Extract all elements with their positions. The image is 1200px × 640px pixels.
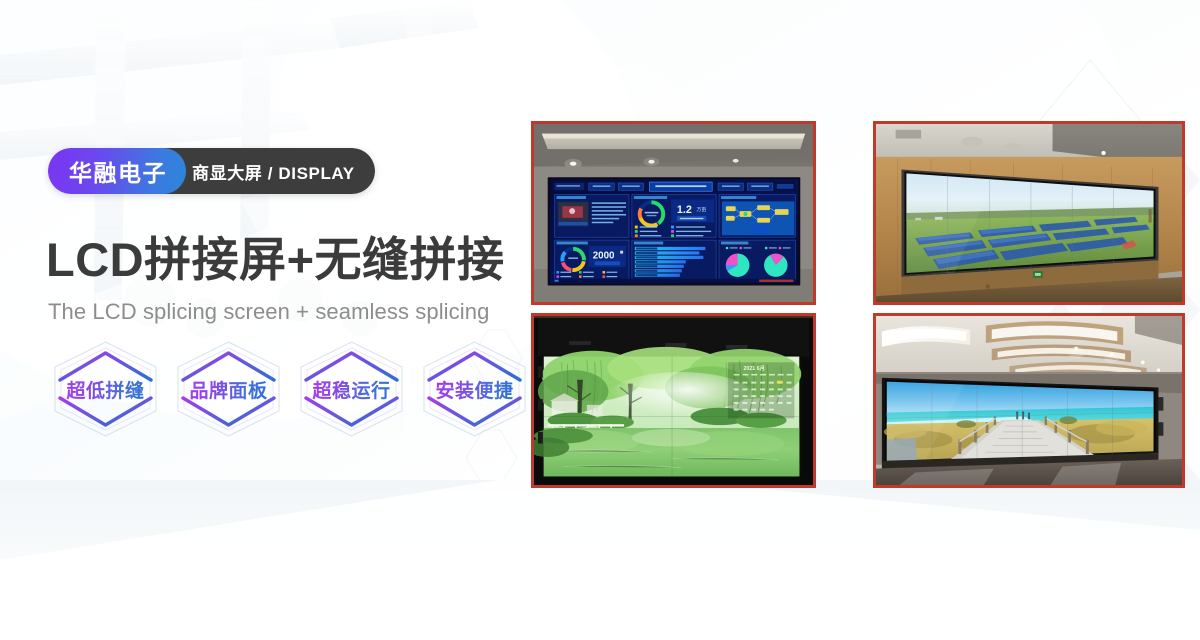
- svg-text:2000: 2000: [593, 251, 615, 262]
- svg-text:2021 6月: 2021 6月: [743, 364, 764, 372]
- feature-badge-list: 超低拼缝 品牌面板: [46, 336, 534, 442]
- svg-text:1.2: 1.2: [677, 204, 692, 216]
- brand-badge: 华融电子 商显大屏 / DISPLAY: [48, 148, 375, 194]
- feature-label: 超低拼缝: [66, 376, 144, 403]
- beach-boardwalk-lobby-wall-photo-icon: [876, 316, 1182, 485]
- dashboard-video-wall-photo-icon: 1.2 万亩: [534, 124, 813, 302]
- feature-badge: 品牌面板: [169, 336, 288, 442]
- svg-text:万亩: 万亩: [697, 206, 707, 213]
- feature-badge: 超低拼缝: [46, 336, 165, 442]
- solar-farm-corridor-wall-photo-icon: [876, 124, 1182, 302]
- feature-label: 品牌面板: [189, 376, 267, 403]
- feature-badge: 超稳运行: [292, 336, 411, 442]
- feature-label: 超稳运行: [312, 376, 390, 403]
- page-title: LCD拼接屏+无缝拼接: [46, 231, 505, 289]
- gallery-photo-willow-lake-wall[interactable]: 2021 6月: [531, 313, 816, 488]
- gallery-photo-dashboard-wall[interactable]: 1.2 万亩: [531, 121, 816, 305]
- gallery-photo-solar-corridor-wall[interactable]: [873, 121, 1185, 305]
- gallery-photo-beach-lobby-wall[interactable]: [873, 313, 1185, 488]
- willow-lake-calendar-wall-photo-icon: 2021 6月: [534, 316, 813, 485]
- product-banner: 华融电子 商显大屏 / DISPLAY LCD拼接屏+无缝拼接 The LCD …: [0, 0, 1200, 640]
- page-subtitle: The LCD splicing screen + seamless splic…: [48, 297, 489, 327]
- category-label: 商显大屏 / DISPLAY: [164, 148, 375, 194]
- brand-name-label: 华融电子: [48, 148, 186, 194]
- feature-label: 安装便捷: [435, 376, 513, 403]
- feature-badge: 安装便捷: [415, 336, 534, 442]
